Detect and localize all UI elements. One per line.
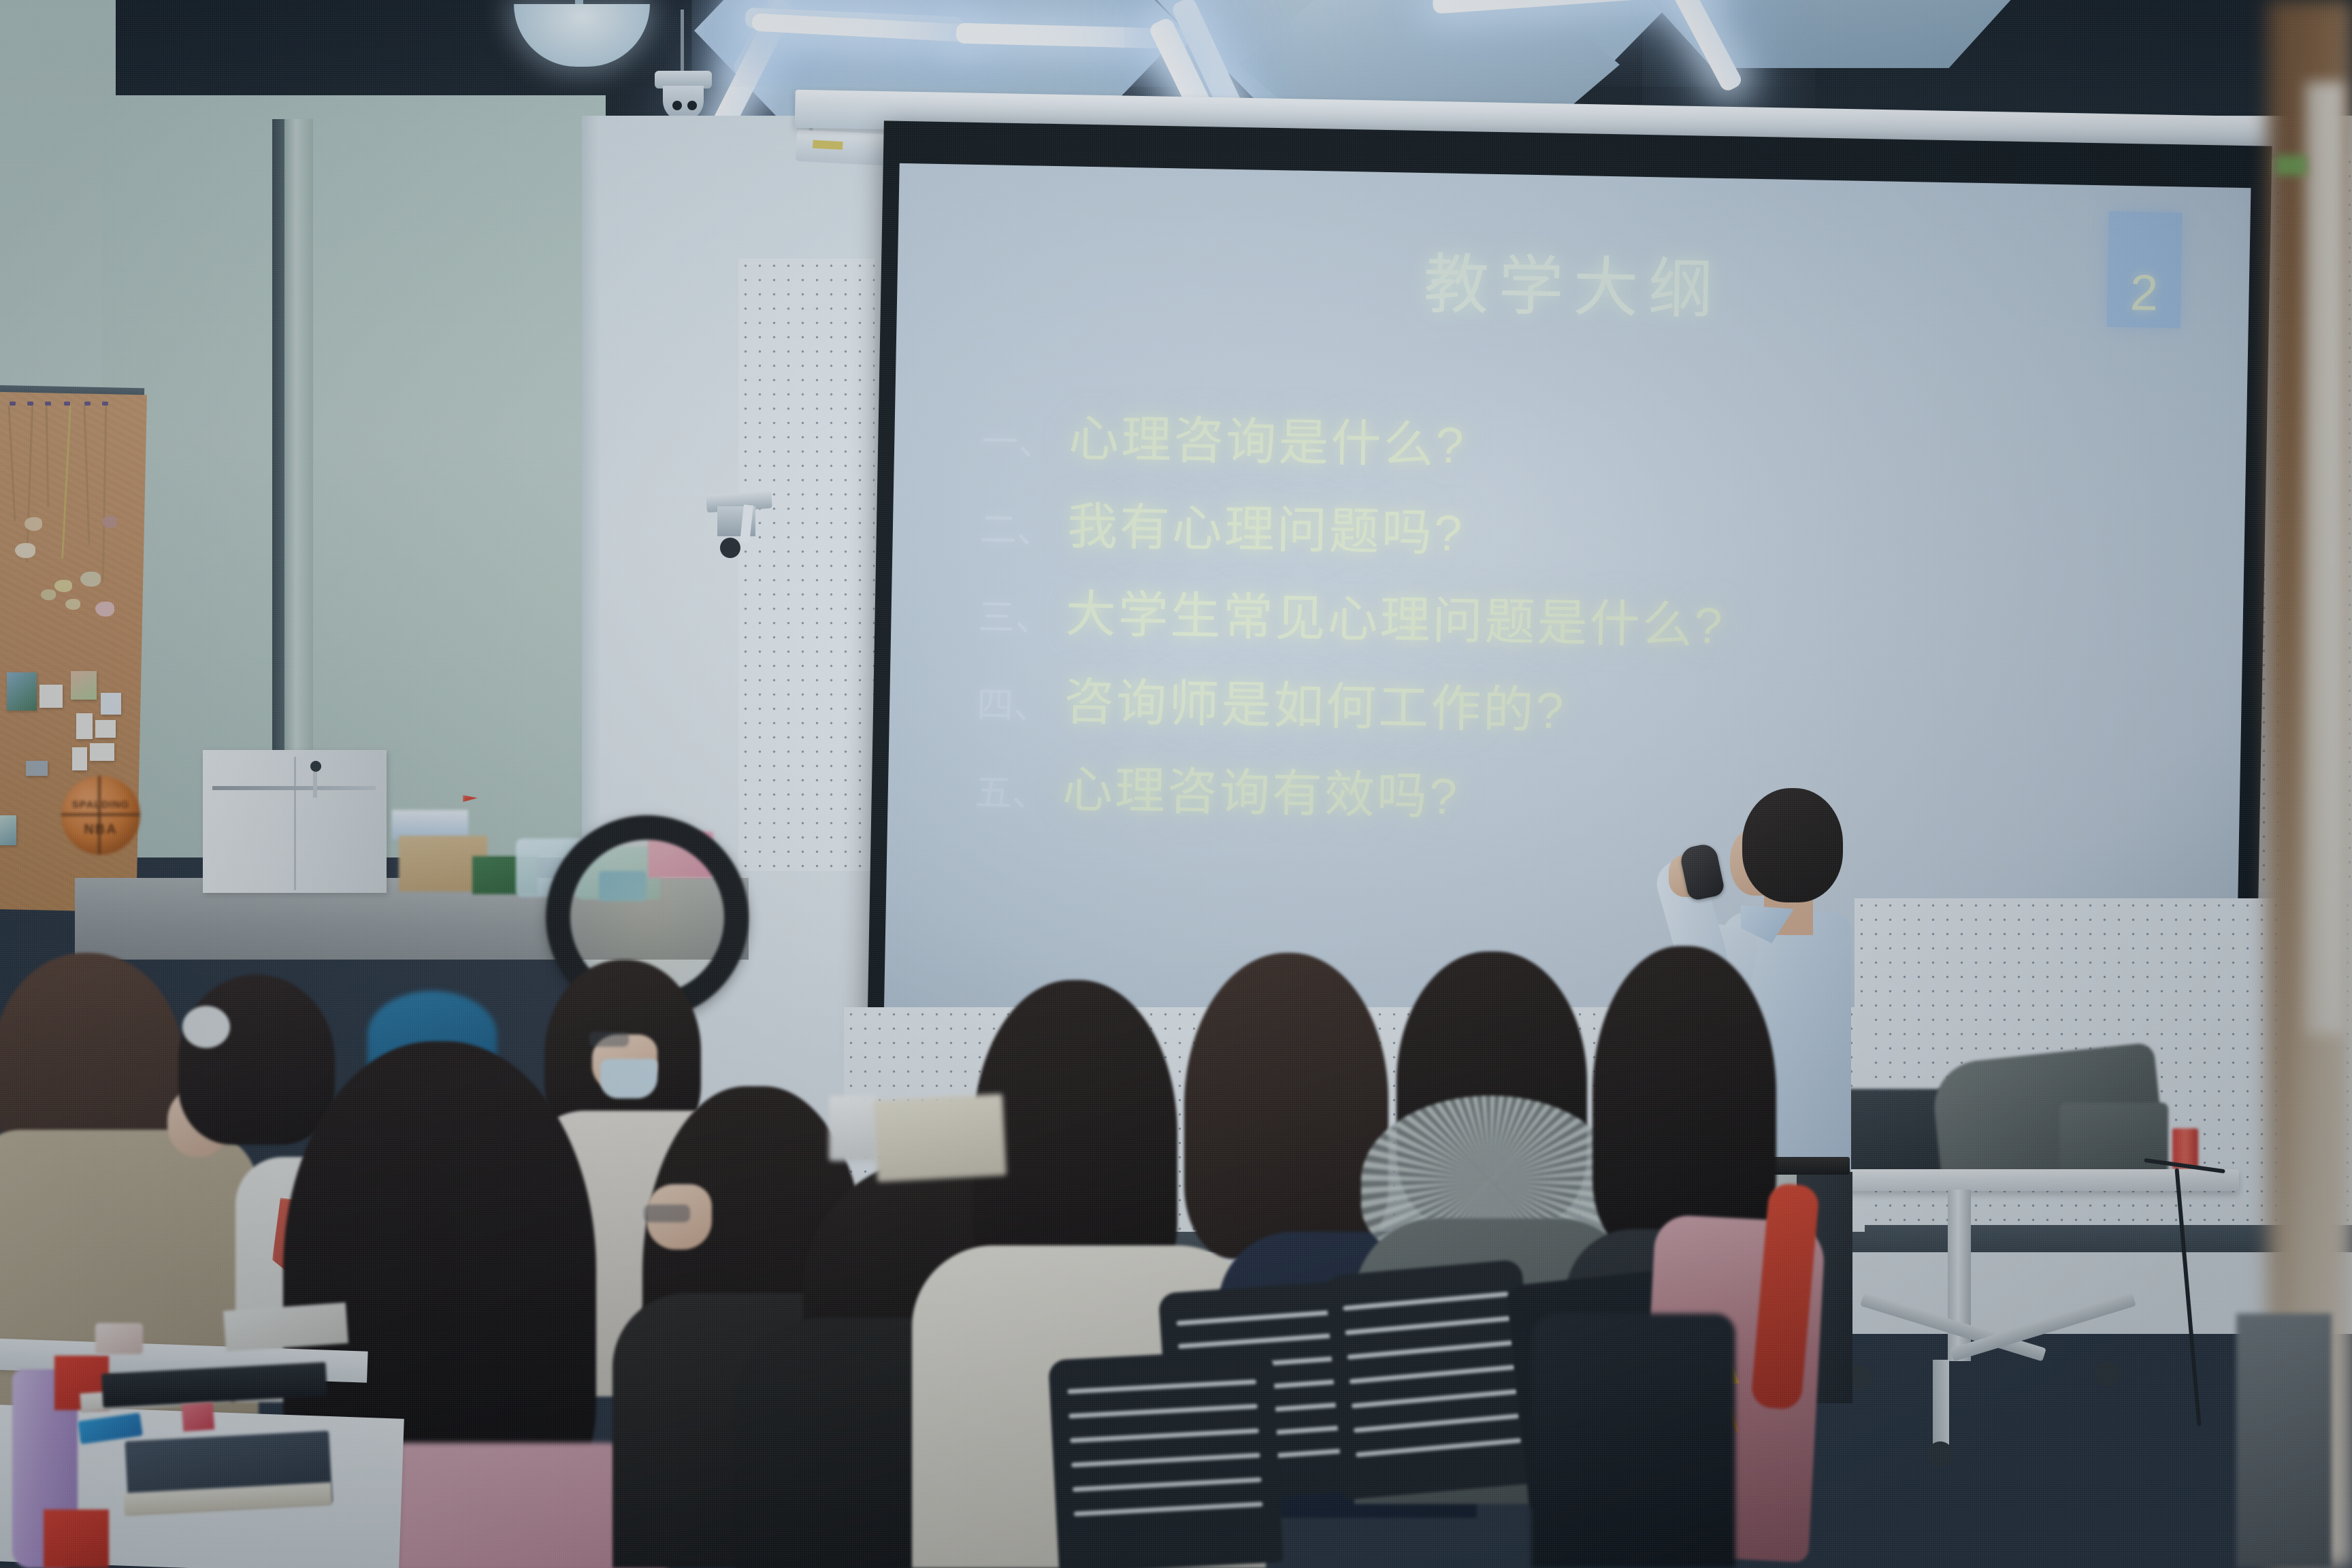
chair-back[interactable] (1324, 1259, 1541, 1500)
list-item: 三、 大学生常见心理问题是什么? (978, 572, 2211, 667)
hanging-shell (65, 599, 80, 610)
student-hair (1184, 953, 1388, 1259)
paper-sheet (223, 1303, 348, 1352)
pinned-note (39, 685, 63, 708)
camera-lens-icon (672, 101, 682, 110)
push-pin (10, 402, 16, 406)
hanging-shell (102, 516, 117, 528)
pinned-card (26, 761, 48, 776)
list-text: 我有心理问题吗? (1066, 485, 1465, 566)
list-item: 四、 咨询师是如何工作的? (976, 659, 2209, 755)
student-hair (1592, 946, 1776, 1252)
list-text: 心理咨询有效吗? (1062, 749, 1460, 829)
push-pin (64, 402, 70, 406)
pinned-note (76, 713, 93, 739)
list-marker: 一、 (981, 411, 1069, 466)
left-wall-upper (0, 0, 116, 408)
basketball-seam (61, 813, 140, 816)
wall-camera-lens-icon (720, 538, 740, 558)
pinned-photo (7, 672, 37, 710)
grey-bag (2059, 1102, 2168, 1175)
push-pin (45, 402, 51, 406)
hanging-shell (95, 602, 114, 617)
slide-number-badge: 2 (2107, 211, 2183, 328)
podium-leg (1933, 1360, 1949, 1448)
basketball-brand: SPALDING (67, 799, 135, 811)
list-marker: 二、 (979, 499, 1067, 554)
basketball: SPALDING NBA (61, 776, 140, 855)
list-text: 咨询师是如何工作的? (1063, 661, 1566, 742)
hanging-shell (24, 517, 42, 531)
list-text: 大学生常见心理问题是什么? (1065, 573, 1725, 658)
white-cup (829, 1096, 877, 1161)
push-pin (102, 402, 108, 406)
push-pin (27, 402, 33, 406)
classroom-photo: 教学大纲 一、 心理咨询是什么? 二、 我有心理问题吗? 三、 大学生常见心理问… (0, 0, 2352, 1568)
cabinet-key[interactable] (313, 772, 317, 798)
slide-title: 教学大纲 (897, 222, 2250, 341)
student-hair (178, 975, 335, 1145)
camera-cable (681, 10, 684, 72)
hanging-shell (54, 580, 72, 592)
hanging-shell (15, 543, 35, 558)
pinned-note (90, 743, 114, 761)
list-item: 五、 心理咨询有效吗? (975, 747, 2208, 843)
pinned-photo (0, 815, 16, 845)
left-wall-green (102, 95, 606, 857)
red-box (44, 1509, 109, 1568)
pinned-note (72, 747, 87, 770)
cabinet-handle[interactable] (212, 786, 376, 790)
caster-wheel (2095, 1361, 2121, 1387)
list-marker: 三、 (978, 587, 1066, 642)
hanging-shell (41, 589, 56, 600)
list-item: 二、 我有心理问题吗? (979, 484, 2212, 579)
student-hand (95, 1323, 143, 1354)
list-item: 一、 心理咨询是什么? (981, 396, 2215, 491)
push-pin (84, 402, 91, 406)
pinned-note (95, 720, 116, 738)
cabinet-door-seam (294, 757, 296, 890)
list-text: 心理咨询是什么? (1068, 397, 1467, 478)
eyeglasses-icon (589, 1032, 629, 1047)
camera-lens-icon (687, 101, 697, 110)
presenter-head (1742, 788, 1843, 902)
pinned-photo (71, 671, 97, 700)
list-marker: 五、 (975, 762, 1062, 817)
face-mask (600, 1059, 657, 1098)
chair-back[interactable] (1048, 1349, 1284, 1568)
basketball-league: NBA (68, 822, 133, 838)
cabinet-lock-icon[interactable] (310, 761, 321, 772)
acoustic-panel (738, 259, 875, 871)
dark-bag (1531, 1313, 1735, 1568)
eyeglasses-icon (644, 1205, 690, 1222)
list-marker: 四、 (977, 674, 1064, 730)
hair-scrunchie (182, 1006, 230, 1048)
foreground-object (2236, 1313, 2332, 1568)
foreground-blur-object (2306, 82, 2344, 1034)
notebook-open (873, 1094, 1007, 1182)
foreground-green-tag (2276, 155, 2307, 176)
slide-number: 2 (2129, 267, 2159, 318)
slide-outline-list: 一、 心理咨询是什么? 二、 我有心理问题吗? 三、 大学生常见心理问题是什么?… (975, 396, 2215, 857)
small-marker (182, 1402, 215, 1431)
basketball-seam (98, 776, 101, 855)
hanging-shell (80, 572, 101, 587)
caster-wheel (1927, 1441, 1953, 1467)
pinned-note (101, 693, 121, 715)
